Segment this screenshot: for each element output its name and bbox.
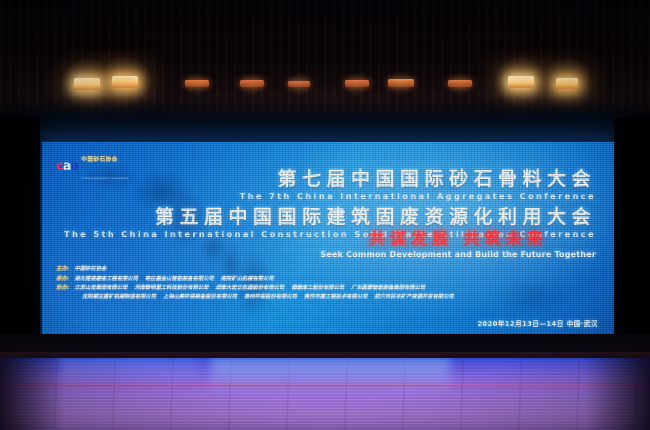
- ceiling-lamp: [556, 78, 578, 89]
- floor-red-line: [0, 385, 650, 386]
- ceiling-lamp: [448, 80, 472, 87]
- ceiling-lamp: [288, 81, 310, 87]
- ceiling-lamp: [388, 79, 414, 87]
- ceiling-lamp: [74, 78, 100, 90]
- led-screen-surface: caa 中国砂石协会 China Aggregates Association …: [42, 142, 614, 334]
- stage-right-shadow: [614, 118, 650, 368]
- ceiling-lamp: [185, 80, 209, 87]
- lamp-core: [240, 80, 264, 87]
- auditorium-scene: caa 中国砂石协会 China Aggregates Association …: [0, 0, 650, 430]
- lamp-core: [345, 80, 369, 87]
- lamp-core: [185, 80, 209, 87]
- floor-screen-reflection: [210, 358, 450, 402]
- stage-floor: [0, 358, 650, 430]
- lamp-core: [508, 76, 534, 88]
- led-screen: caa 中国砂石协会 China Aggregates Association …: [42, 142, 614, 334]
- lamp-core: [74, 78, 100, 90]
- wall-shadow: [0, 96, 650, 130]
- lamp-core: [112, 76, 138, 88]
- ceiling-lamp: [240, 80, 264, 87]
- stage-left-shadow: [0, 118, 40, 368]
- lamp-core: [388, 79, 414, 87]
- lamp-core: [556, 78, 578, 89]
- lamp-core: [288, 81, 310, 87]
- ceiling-lamp: [345, 80, 369, 87]
- floor-screen-reflection-secondary: [60, 358, 200, 388]
- lamp-core: [448, 80, 472, 87]
- ceiling-lamp: [112, 76, 138, 88]
- led-pixel-grid: [42, 142, 614, 334]
- ceiling-lamp: [508, 76, 534, 88]
